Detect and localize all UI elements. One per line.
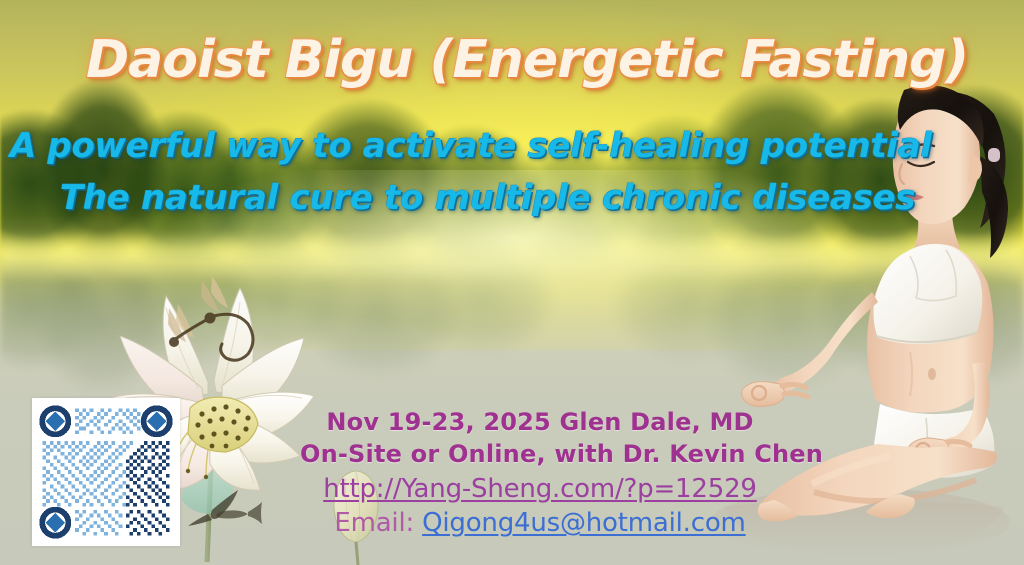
poster-subtitle-line-1: A powerful way to activate self-healing … [10,126,932,166]
event-format-presenter: On-Site or Online, with Dr. Kevin Chen [300,440,780,468]
email-address-link[interactable]: Qigong4us@hotmail.com [422,508,746,538]
poster-subtitle-line-2: The natural cure to multiple chronic dis… [60,178,915,218]
email-label: Email: [334,508,414,538]
poster-banner: Daoist Bigu (Energetic Fasting) A powerf… [0,0,1024,565]
qr-code[interactable] [32,398,180,546]
event-date-location: Nov 19-23, 2025 Glen Dale, MD [300,408,780,436]
event-website-link[interactable]: http://Yang-Sheng.com/?p=12529 [300,474,780,505]
event-details: Nov 19-23, 2025 Glen Dale, MD On-Site or… [300,408,780,539]
poster-title: Daoist Bigu (Energetic Fasting) [86,30,968,90]
event-email-line: Email: Qigong4us@hotmail.com [300,508,780,539]
qr-code-icon [39,405,173,539]
